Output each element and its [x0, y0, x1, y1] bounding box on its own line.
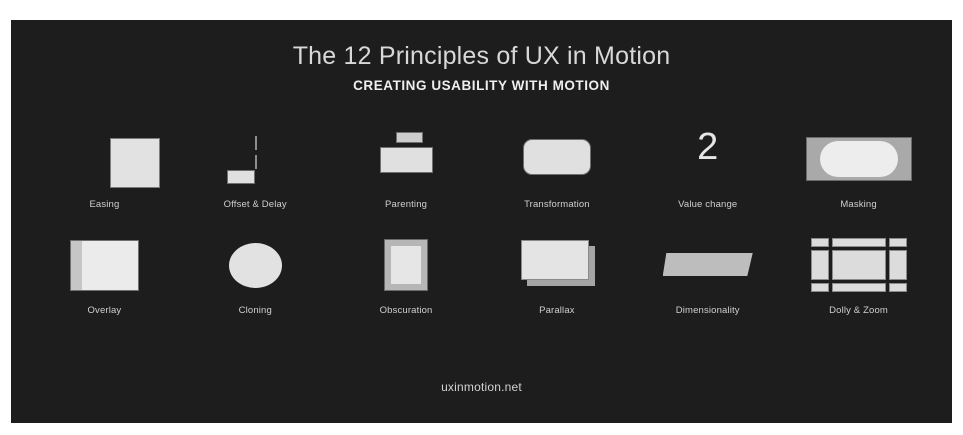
principle-dolly-zoom[interactable]: Dolly & Zoom	[783, 226, 934, 316]
strip-icon	[71, 241, 82, 290]
cloning-art	[180, 226, 331, 300]
principle-label: Parallax	[539, 305, 575, 316]
page-title: The 12 Principles of UX in Motion	[11, 42, 952, 71]
parenting-art	[331, 120, 482, 194]
grid-cell	[811, 250, 829, 280]
masking-art	[783, 120, 934, 194]
footer-url[interactable]: uxinmotion.net	[11, 380, 952, 394]
principle-label: Value change	[678, 199, 737, 210]
principle-value-change[interactable]: 2 Value change	[632, 120, 783, 210]
principle-dimensionality[interactable]: Dimensionality	[632, 226, 783, 316]
principle-label: Offset & Delay	[224, 199, 287, 210]
principle-easing[interactable]: Easing	[29, 120, 180, 210]
principle-cloning[interactable]: Cloning	[180, 226, 331, 316]
grid-cell	[889, 250, 907, 280]
principle-label: Parenting	[385, 199, 427, 210]
obscuration-art	[331, 226, 482, 300]
principle-transformation[interactable]: Transformation	[481, 120, 632, 210]
line-with-block-icon	[255, 136, 257, 150]
offset-delay-art	[180, 120, 331, 194]
principle-label: Dolly & Zoom	[829, 305, 888, 316]
front-layer-icon	[521, 240, 589, 280]
parent-child-rects-icon	[396, 132, 423, 143]
grid-cell-center	[832, 250, 886, 280]
block-icon	[227, 170, 255, 184]
grid-cell	[832, 283, 886, 292]
principle-parenting[interactable]: Parenting	[331, 120, 482, 210]
overlay-art	[29, 226, 180, 300]
grid-cell	[832, 238, 886, 247]
slide-canvas: The 12 Principles of UX in Motion CREATI…	[11, 20, 952, 423]
grid-cell	[811, 238, 829, 247]
grid-frame-icon	[811, 238, 907, 292]
grid-cell	[889, 238, 907, 247]
parent-rect-icon	[380, 147, 433, 173]
grid-cell	[889, 283, 907, 292]
line-segment-icon	[255, 155, 257, 169]
dimensionality-art	[632, 226, 783, 300]
principle-label: Dimensionality	[676, 305, 740, 316]
principle-obscuration[interactable]: Obscuration	[331, 226, 482, 316]
easing-art	[29, 120, 180, 194]
value-change-art: 2	[632, 120, 783, 194]
parallax-art	[481, 226, 632, 300]
principle-label: Overlay	[88, 305, 122, 316]
principles-grid: Easing Offset & Delay Parenting	[29, 120, 934, 316]
transformation-art	[481, 120, 632, 194]
grid-cell	[811, 283, 829, 292]
numeral-two-icon: 2	[632, 128, 783, 166]
pill-shape-icon	[820, 141, 898, 177]
page-subtitle: CREATING USABILITY WITH MOTION	[11, 78, 952, 93]
principles-row-1: Easing Offset & Delay Parenting	[29, 120, 934, 210]
square-offset-icon	[110, 138, 160, 188]
principle-label: Masking	[840, 199, 876, 210]
trapezoid-plane-icon	[663, 253, 753, 276]
principle-masking[interactable]: Masking	[783, 120, 934, 210]
inner-square-icon	[391, 246, 421, 284]
principles-row-2: Overlay Cloning Obscuration	[29, 226, 934, 316]
principle-label: Obscuration	[380, 305, 433, 316]
principle-label: Transformation	[524, 199, 590, 210]
rounded-rect-icon	[523, 139, 591, 175]
principle-parallax[interactable]: Parallax	[481, 226, 632, 316]
dolly-zoom-art	[783, 226, 934, 300]
principle-label: Cloning	[239, 305, 272, 316]
principle-offset-delay[interactable]: Offset & Delay	[180, 120, 331, 210]
ellipse-icon	[229, 243, 282, 288]
principle-overlay[interactable]: Overlay	[29, 226, 180, 316]
principle-label: Easing	[89, 199, 119, 210]
